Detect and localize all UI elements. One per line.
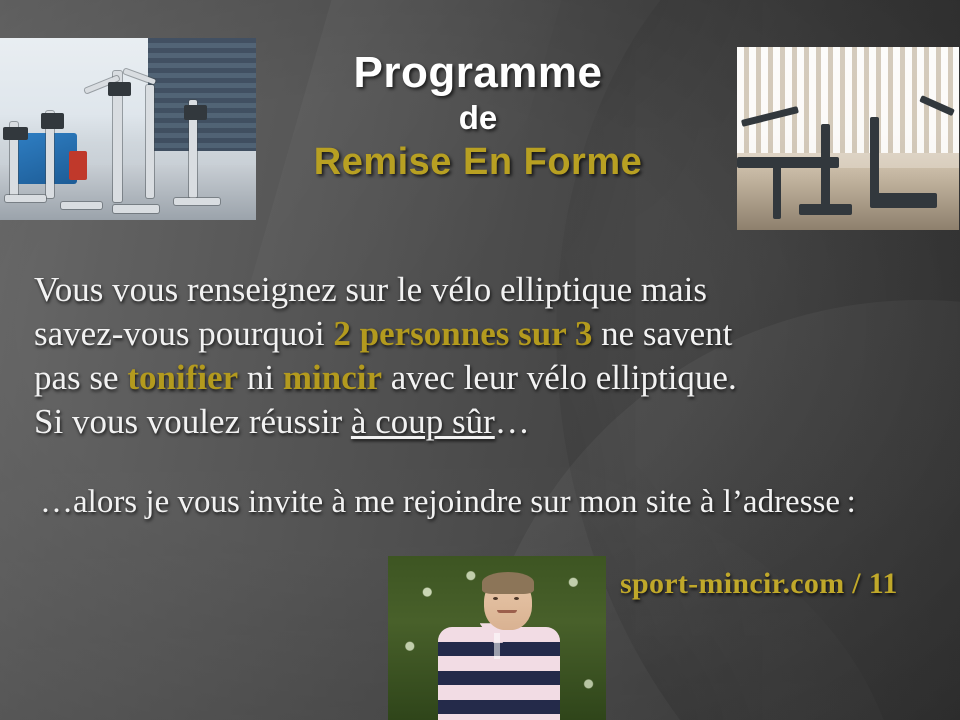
portrait-hair bbox=[482, 572, 534, 593]
gym-scene-left bbox=[0, 38, 256, 220]
text-segment: Vous vous renseignez sur le vélo ellipti… bbox=[34, 270, 707, 309]
gym-left-blue-equipment bbox=[10, 133, 77, 184]
console-panel bbox=[41, 113, 64, 129]
title-line-de: de bbox=[268, 97, 688, 138]
website-url: sport-mincir.com / 11 bbox=[620, 567, 898, 601]
paragraph-one: Vous vous renseignez sur le vélo ellipti… bbox=[34, 268, 960, 444]
console-panel bbox=[3, 127, 29, 140]
highlight-tonifier: tonifier bbox=[127, 358, 238, 397]
text-segment: … bbox=[495, 402, 530, 441]
elliptical-frame bbox=[821, 124, 830, 212]
text-segment: ne savent bbox=[592, 314, 732, 353]
text-segment: Si vous voulez réussir bbox=[34, 402, 351, 441]
paragraph-one-line-4: Si vous voulez réussir à coup sûr… bbox=[34, 400, 960, 444]
elliptical-frame bbox=[773, 157, 782, 219]
gym-scene-right bbox=[737, 47, 959, 230]
portrait-scene bbox=[388, 556, 606, 720]
elliptical-pedal bbox=[174, 198, 220, 205]
highlight-2-personnes-sur-3: 2 personnes sur 3 bbox=[333, 314, 592, 353]
text-segment: savez-vous pourquoi bbox=[34, 314, 333, 353]
elliptical-pedal bbox=[61, 202, 102, 209]
elliptical-pedal bbox=[875, 193, 937, 208]
gym-left-wall bbox=[148, 38, 256, 151]
title-line-programme: Programme bbox=[268, 50, 688, 97]
gym-left-red-object bbox=[69, 151, 87, 180]
elliptical-frame bbox=[146, 85, 154, 198]
paragraph-two: …alors je vous invite à me rejoindre sur… bbox=[40, 480, 960, 524]
text-segment: avec leur vélo elliptique. bbox=[382, 358, 737, 397]
underlined-a-coup-sur: à coup sûr bbox=[351, 402, 495, 441]
text-segment: ni bbox=[238, 358, 283, 397]
gym-ellipticals-group-photo bbox=[0, 38, 256, 220]
console-panel bbox=[184, 105, 207, 120]
gym-two-people-ellipticals-photo bbox=[737, 47, 959, 230]
presenter-portrait-photo bbox=[388, 556, 606, 720]
paragraph-one-line-1: Vous vous renseignez sur le vélo ellipti… bbox=[34, 268, 960, 312]
paragraph-one-line-3: pas se tonifier ni mincir avec leur vélo… bbox=[34, 356, 960, 400]
paragraph-two-line-2: l’adresse : bbox=[723, 484, 856, 520]
text-segment: pas se bbox=[34, 358, 127, 397]
paragraph-one-line-2: savez-vous pourquoi 2 personnes sur 3 ne… bbox=[34, 312, 960, 356]
paragraph-two-line-1: …alors je vous invite à me rejoindre sur… bbox=[40, 484, 715, 520]
highlight-mincir: mincir bbox=[283, 358, 382, 397]
presentation-slide: Programme de Remise En Forme Vous vous r… bbox=[0, 0, 960, 720]
elliptical-pedal bbox=[5, 195, 46, 202]
elliptical-pedal bbox=[113, 205, 159, 212]
title-line-remise-en-forme: Remise En Forme bbox=[268, 138, 688, 187]
elliptical-pedal bbox=[799, 204, 852, 215]
portrait-mouth bbox=[497, 610, 517, 613]
portrait-shirt-placket bbox=[494, 633, 501, 659]
console-panel bbox=[108, 82, 131, 97]
portrait-eye-left bbox=[493, 597, 498, 600]
slide-title: Programme de Remise En Forme bbox=[268, 50, 688, 187]
